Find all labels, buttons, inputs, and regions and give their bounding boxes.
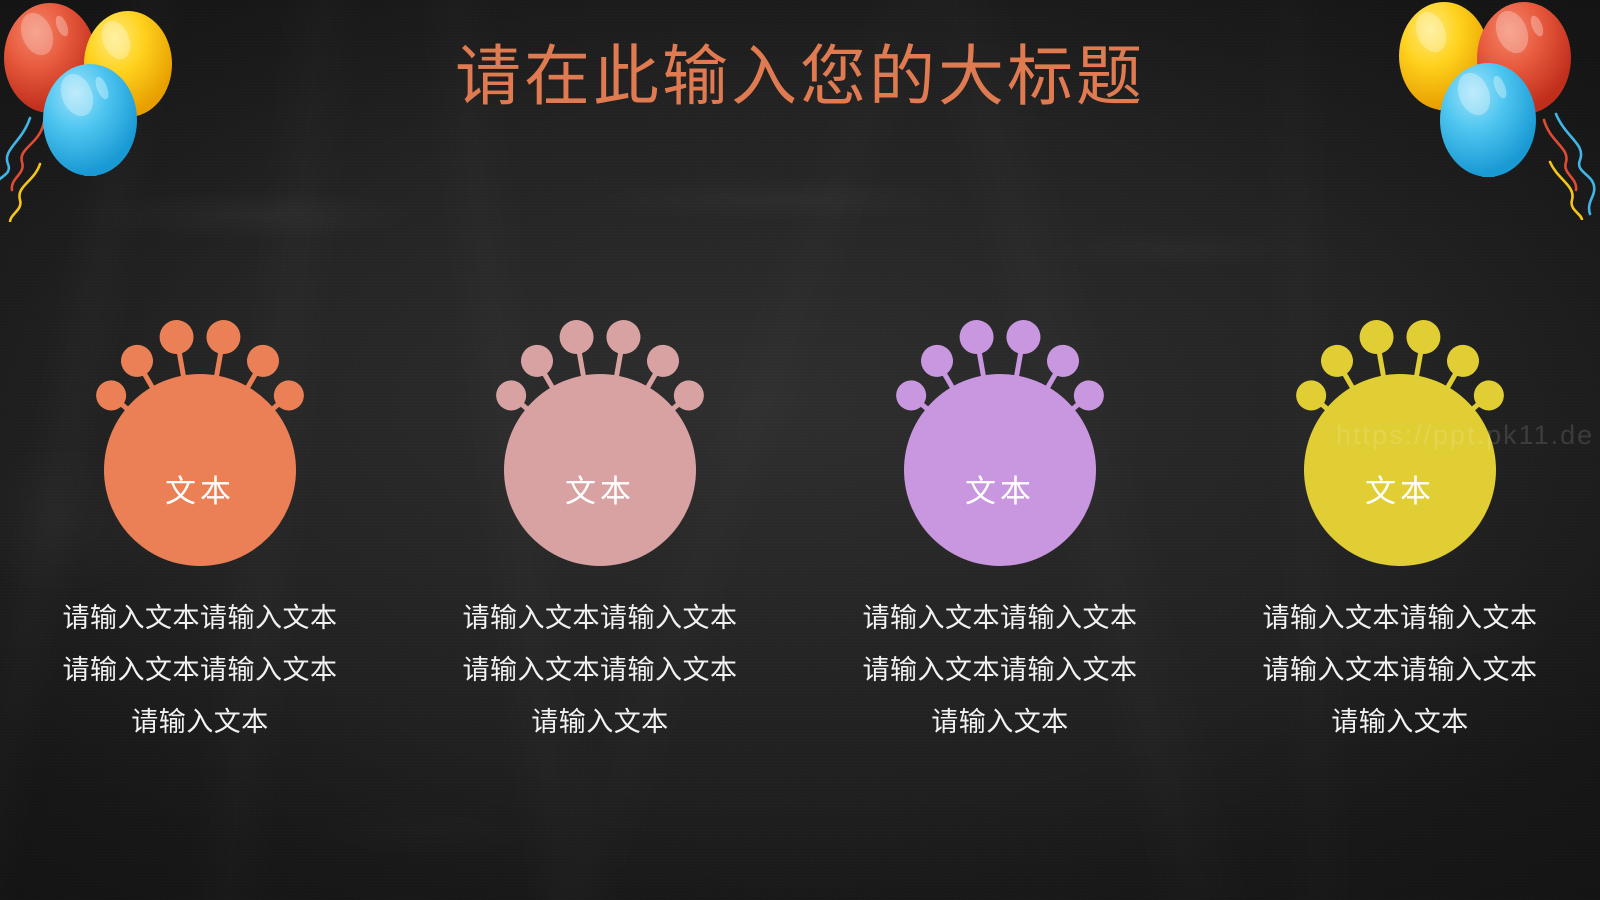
- balloon-cluster-top-right: [1372, 0, 1600, 225]
- column-3: 文本 请输入文本请输入文本请输入文本请输入文本请输入文本: [800, 276, 1200, 796]
- balloon-strings: [0, 118, 44, 222]
- balloon-cluster-top-left: [0, 0, 212, 227]
- column-body-text-3: 请输入文本请输入文本请输入文本请输入文本请输入文本: [861, 592, 1139, 748]
- column-body-text-2: 请输入文本请输入文本请输入文本请输入文本请输入文本: [461, 592, 739, 748]
- column-body-text-4: 请输入文本请输入文本请输入文本请输入文本请输入文本: [1261, 592, 1539, 748]
- circle-label-2: 文本: [470, 466, 730, 511]
- blue-balloon: [43, 64, 137, 176]
- content-columns: 文本 请输入文本请输入文本请输入文本请输入文本请输入文本: [0, 276, 1600, 796]
- column-2: 文本 请输入文本请输入文本请输入文本请输入文本请输入文本: [400, 276, 800, 796]
- circle-label-1: 文本: [70, 466, 330, 511]
- presentation-slide: 请在此输入您的大标题: [0, 0, 1600, 900]
- column-4: 文本 请输入文本请输入文本请输入文本请输入文本请输入文本: [1200, 276, 1600, 796]
- blue-balloon: [1440, 63, 1536, 177]
- pin-burst-graphic-4[interactable]: 文本: [1270, 276, 1530, 566]
- circle-label-3: 文本: [870, 466, 1130, 511]
- pin-burst-graphic-3[interactable]: 文本: [870, 276, 1130, 566]
- circle-label-4: 文本: [1270, 466, 1530, 511]
- column-body-text-1: 请输入文本请输入文本请输入文本请输入文本请输入文本: [61, 592, 339, 748]
- pin-burst-graphic-2[interactable]: 文本: [470, 276, 730, 566]
- column-1: 文本 请输入文本请输入文本请输入文本请输入文本请输入文本: [0, 276, 400, 796]
- pin-burst-graphic-1[interactable]: 文本: [70, 276, 330, 566]
- slide-title: 请在此输入您的大标题: [0, 40, 1600, 114]
- balloon-strings: [1544, 114, 1594, 220]
